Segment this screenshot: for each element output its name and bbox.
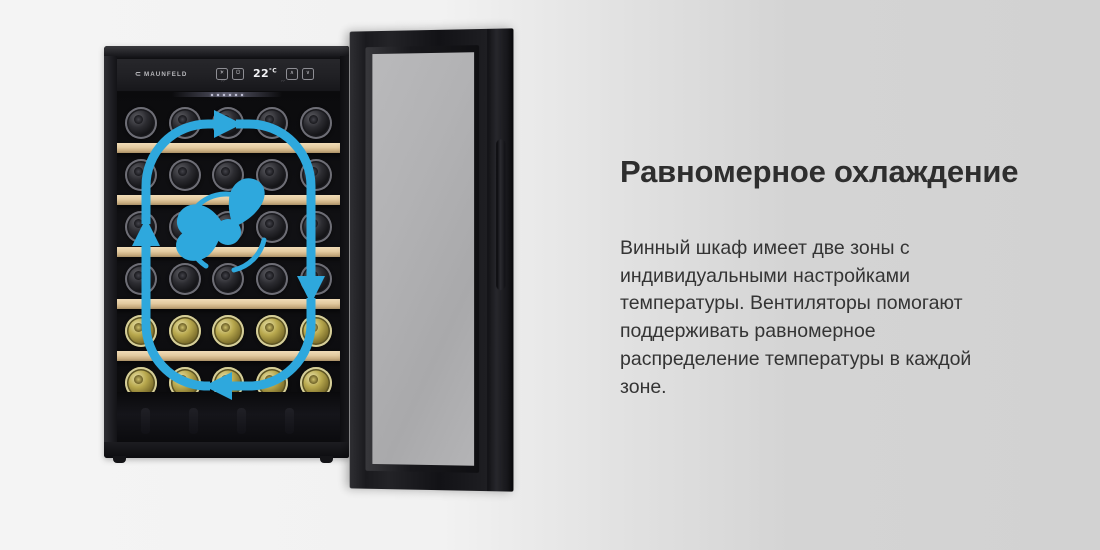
cabinet-foot — [113, 456, 126, 463]
led-dot — [211, 94, 213, 96]
bottle-row — [119, 313, 338, 349]
wine-bottle — [300, 211, 332, 243]
cabinet-left-wall — [104, 56, 117, 444]
wine-bottle — [169, 315, 201, 347]
chevron-down-icon: ∨ — [306, 71, 310, 77]
wine-bottle — [125, 315, 157, 347]
wine-bottle — [169, 159, 201, 191]
door-inner-frame — [365, 45, 479, 473]
cabinet-floor — [117, 392, 340, 442]
wine-cabinet: ⊂MAUNFELD ☀ ⏻ 22°C ∧ ∨ ⌐⌐ ⌐⌐ — [104, 46, 349, 458]
wooden-shelf — [117, 143, 340, 153]
led-dot — [229, 94, 231, 96]
door-handle[interactable] — [496, 139, 505, 290]
door-glass-panel — [372, 52, 474, 466]
page-title: Равномерное охлаждение — [620, 155, 1070, 189]
wine-bottle — [169, 263, 201, 295]
brand-name: MAUNFELD — [144, 71, 188, 78]
led-light-strip — [172, 92, 282, 97]
wine-bottle — [125, 263, 157, 295]
wine-bottle — [300, 263, 332, 295]
wine-bottle — [212, 315, 244, 347]
temperature-unit: °C — [269, 67, 277, 74]
floor-ridge — [237, 408, 246, 434]
led-dot — [223, 94, 225, 96]
wine-bottle — [300, 315, 332, 347]
cabinet-interior — [117, 91, 340, 442]
temperature-display: 22°C — [253, 67, 277, 80]
bottle-row — [119, 261, 338, 297]
door-outer-edge — [487, 28, 513, 491]
wooden-shelf — [117, 195, 340, 205]
wine-bottle — [256, 315, 288, 347]
control-panel: ⊂MAUNFELD ☀ ⏻ 22°C ∧ ∨ ⌐⌐ ⌐⌐ — [117, 59, 340, 92]
brand-mark-icon: ⊂ — [135, 70, 142, 78]
wine-bottle — [169, 107, 201, 139]
wine-bottle — [256, 211, 288, 243]
wine-bottle — [169, 211, 201, 243]
chevron-up-icon: ∧ — [290, 71, 294, 77]
cabinet-foot — [320, 456, 333, 463]
promo-banner: ⊂MAUNFELD ☀ ⏻ 22°C ∧ ∨ ⌐⌐ ⌐⌐ — [0, 0, 1100, 550]
light-button[interactable]: ☀ — [216, 68, 228, 80]
floor-ridge — [141, 408, 150, 434]
wine-bottle — [256, 159, 288, 191]
body-description: Винный шкаф имеет две зоны с индивидуаль… — [620, 235, 992, 401]
led-dot — [235, 94, 237, 96]
cabinet-right-wall — [340, 56, 349, 444]
power-button[interactable]: ⏻ — [232, 68, 244, 80]
wine-bottle — [212, 211, 244, 243]
bottle-row — [119, 209, 338, 245]
text-panel: Равномерное охлаждение Винный шкаф имеет… — [620, 155, 1070, 401]
wooden-shelf — [117, 247, 340, 257]
wooden-shelf — [117, 299, 340, 309]
floor-ridge — [285, 408, 294, 434]
temp-up-button[interactable]: ∧ — [286, 68, 298, 80]
wine-bottle — [256, 107, 288, 139]
door-frame — [350, 28, 514, 491]
wine-bottle — [125, 159, 157, 191]
floor-ridge — [189, 408, 198, 434]
wine-bottle — [125, 211, 157, 243]
bottle-row — [119, 157, 338, 193]
led-dot — [241, 94, 243, 96]
wine-bottle — [300, 159, 332, 191]
cabinet-top-edge — [104, 46, 349, 59]
bottle-row — [119, 105, 338, 141]
wine-bottle — [256, 263, 288, 295]
wine-bottle — [212, 263, 244, 295]
wooden-shelf — [117, 351, 340, 361]
temp-down-button[interactable]: ∨ — [302, 68, 314, 80]
temperature-value: 22 — [253, 67, 269, 80]
glass-door[interactable] — [349, 30, 513, 490]
power-icon: ⏻ — [236, 71, 240, 77]
brand-logo: ⊂MAUNFELD — [135, 70, 187, 78]
zone-label-lower: ⌐⌐ — [281, 79, 286, 83]
wine-bottle — [300, 107, 332, 139]
wine-bottle — [212, 107, 244, 139]
zone-label-upper: ⌐⌐ — [221, 79, 226, 83]
light-icon: ☀ — [220, 71, 225, 77]
wine-bottle — [212, 159, 244, 191]
wine-bottle — [125, 107, 157, 139]
control-button-row: ☀ ⏻ 22°C ∧ ∨ — [216, 67, 314, 80]
led-dot — [217, 94, 219, 96]
cabinet-bottom-edge — [104, 442, 349, 458]
